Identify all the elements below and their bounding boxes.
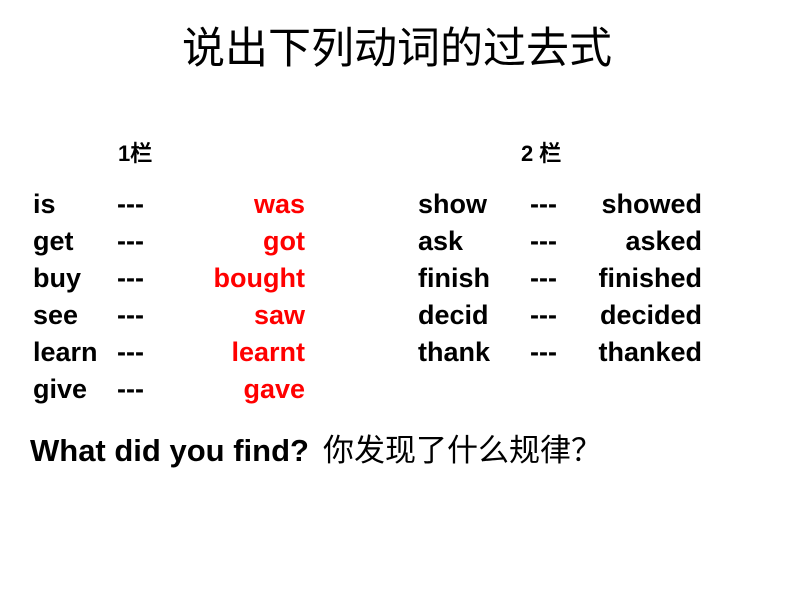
table-row: see --- saw	[33, 297, 305, 334]
verb-base: thank	[418, 334, 530, 371]
table-row: ask --- asked	[418, 223, 702, 260]
question-english: What did you find?	[30, 433, 309, 468]
verb-past: learnt	[179, 334, 305, 371]
verb-base: give	[33, 371, 117, 408]
verb-past: asked	[576, 223, 702, 260]
table-row: buy --- bought	[33, 260, 305, 297]
verb-base: see	[33, 297, 117, 334]
slide-canvas: 说出下列动词的过去式 1栏 2栏 is --- was get --- got …	[0, 0, 794, 596]
verb-base: finish	[418, 260, 530, 297]
verb-past: thanked	[576, 334, 702, 371]
verb-base: ask	[418, 223, 530, 260]
table-row: learn --- learnt	[33, 334, 305, 371]
verb-separator: ---	[530, 223, 576, 260]
verb-past: decided	[576, 297, 702, 334]
table-row: give --- gave	[33, 371, 305, 408]
verb-base: learn	[33, 334, 117, 371]
verb-separator: ---	[117, 334, 179, 371]
column-2-header-number: 2	[521, 141, 533, 166]
table-row: decid --- decided	[418, 297, 702, 334]
table-row: is --- was	[33, 186, 305, 223]
verb-separator: ---	[530, 186, 576, 223]
column-1-header: 1栏	[118, 141, 152, 167]
verb-separator: ---	[117, 223, 179, 260]
verb-past: finished	[576, 260, 702, 297]
verb-past: showed	[576, 186, 702, 223]
verb-past: bought	[179, 260, 305, 297]
verb-base: get	[33, 223, 117, 260]
question-chinese: 你发现了什么规律？	[323, 433, 602, 469]
column-1-header-number: 1	[118, 141, 130, 166]
verb-past: got	[179, 223, 305, 260]
verb-base: show	[418, 186, 530, 223]
verb-table-column-2: show --- showed ask --- asked finish ---…	[418, 186, 702, 371]
page-title: 说出下列动词的过去式	[0, 22, 794, 76]
verb-past: was	[179, 186, 305, 223]
verb-table-column-1: is --- was get --- got buy --- bought se…	[33, 186, 305, 408]
table-row: show --- showed	[418, 186, 702, 223]
verb-table-column-1-body: is --- was get --- got buy --- bought se…	[33, 186, 305, 408]
verb-base: decid	[418, 297, 530, 334]
table-row: get --- got	[33, 223, 305, 260]
verb-separator: ---	[117, 371, 179, 408]
verb-past: saw	[179, 297, 305, 334]
verb-past: gave	[179, 371, 305, 408]
verb-table-column-2-body: show --- showed ask --- asked finish ---…	[418, 186, 702, 371]
verb-separator: ---	[117, 260, 179, 297]
column-2-header-label: 栏	[539, 141, 561, 167]
column-2-header: 2栏	[521, 141, 561, 167]
verb-separator: ---	[530, 260, 576, 297]
verb-separator: ---	[117, 186, 179, 223]
table-row: thank --- thanked	[418, 334, 702, 371]
table-row: finish --- finished	[418, 260, 702, 297]
verb-separator: ---	[530, 297, 576, 334]
verb-separator: ---	[117, 297, 179, 334]
column-1-header-label: 栏	[130, 141, 152, 167]
bottom-question: What did you find?你发现了什么规律？	[30, 430, 782, 472]
verb-base: buy	[33, 260, 117, 297]
verb-separator: ---	[530, 334, 576, 371]
verb-base: is	[33, 186, 117, 223]
